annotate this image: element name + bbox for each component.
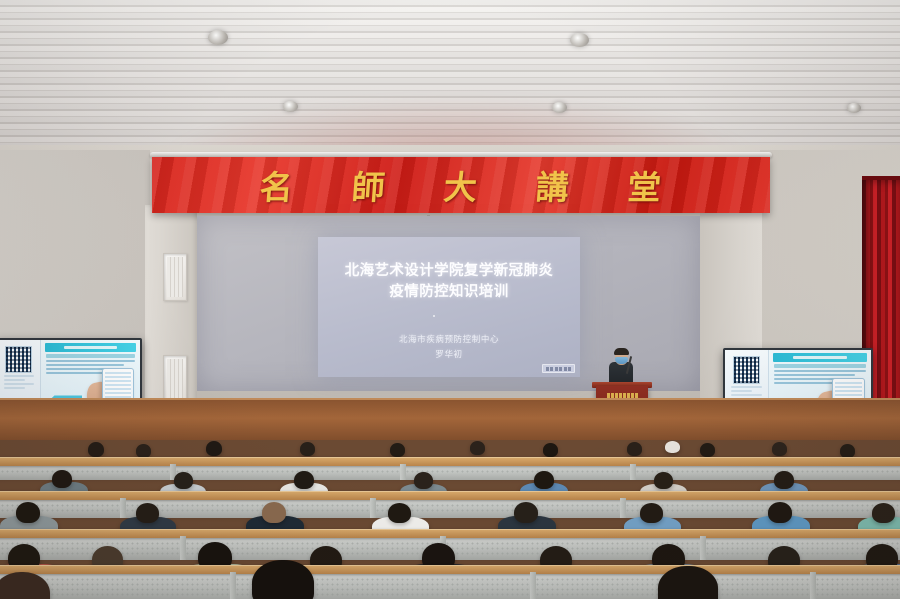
qr-caption-line [4,375,34,377]
qr-caption-line [4,379,25,381]
banner-char-2: 師 [350,161,387,209]
attendee-head [543,443,558,457]
wall-niche-upper [163,253,187,301]
qr-caption-line [731,394,762,396]
desk-surface [0,491,900,500]
attendee-head [774,471,794,489]
slide-title-line-2: 疫情防控知识培训 [326,282,572,303]
attendee-head [640,503,663,523]
red-banner: 名 師 大 講 堂 [152,157,770,213]
lecture-hall-photo: 名 師 大 講 堂 北海艺术设计学院复学新冠肺炎 疫情防控知识培训 北海市疾病预… [0,0,900,599]
attendee-head [470,441,485,455]
slide-bullet-dot [433,315,435,317]
attendee-head [414,472,433,489]
attendee-head [136,444,151,458]
desk-surface [0,529,900,538]
attendee-head [174,472,193,489]
slide-title-line-1: 北海艺术设计学院复学新冠肺炎 [326,261,572,282]
attendee-head [654,472,673,489]
left-display-header-bar [45,343,136,352]
attendee-head [534,471,554,489]
face-mask-icon [615,357,628,364]
attendee-head [262,502,286,523]
qr-code-icon [5,346,32,373]
attendee-head [772,442,787,456]
attendee-head [390,443,405,457]
downlight-icon [847,103,861,113]
seat-row-front [0,570,900,599]
seat-divider [810,572,816,599]
downlight-icon [552,102,567,113]
slide-organization: 北海市疾病预防控制中心 [326,333,572,348]
desk-surface [0,565,900,574]
qr-caption-line [4,383,34,385]
audience-seating-area [0,440,900,599]
attendee-head [136,503,159,523]
wall-niche-lower [163,355,187,403]
qr-caption-line [731,386,762,388]
attendee-head [52,470,72,488]
banner-char-4: 講 [534,161,571,209]
attendee-head-capped [665,441,680,453]
right-display-header-bar [773,353,867,362]
attendee-head-foreground [252,560,314,599]
attendee-head [88,442,104,457]
attendee-head [16,502,40,523]
attendee-head [514,502,538,523]
qr-code-icon [733,356,761,384]
attendee-head [627,442,642,456]
attendee-head [294,471,314,489]
banner-char-3: 大 [442,161,479,209]
banner-char-1: 名 [258,161,295,209]
qr-caption-line [4,387,25,389]
attendee-head [700,443,715,457]
slide-title: 北海艺术设计学院复学新冠肺炎 疫情防控知识培训 [326,261,572,303]
seat-divider [230,572,236,599]
attendee-head [206,441,222,456]
attendee-head [388,503,411,523]
banner-char-5: 堂 [626,161,663,209]
attendee-head [872,503,895,523]
slide-presenter: 罗华初 [326,348,572,363]
presenter-hair [614,348,629,355]
slide-watermark-toolbar [542,364,576,373]
attendee-head [840,444,855,458]
downlight-icon [570,33,589,47]
desk-surface [0,457,900,466]
right-display-subtitle-bar [774,364,866,368]
attendee-head [300,442,315,456]
left-display-subtitle-bar [46,354,135,358]
banner-text: 名 師 大 講 堂 [152,160,770,210]
presentation-slide: 北海艺术设计学院复学新冠肺炎 疫情防控知识培训 北海市疾病预防控制中心 罗华初 [318,237,580,377]
seat-divider [530,572,536,599]
downlight-icon [208,30,228,45]
attendee-head [768,502,792,523]
qr-caption-line [731,390,752,392]
slide-subtitle: 北海市疾病预防控制中心 罗华初 [326,333,572,363]
downlight-icon [283,101,298,112]
